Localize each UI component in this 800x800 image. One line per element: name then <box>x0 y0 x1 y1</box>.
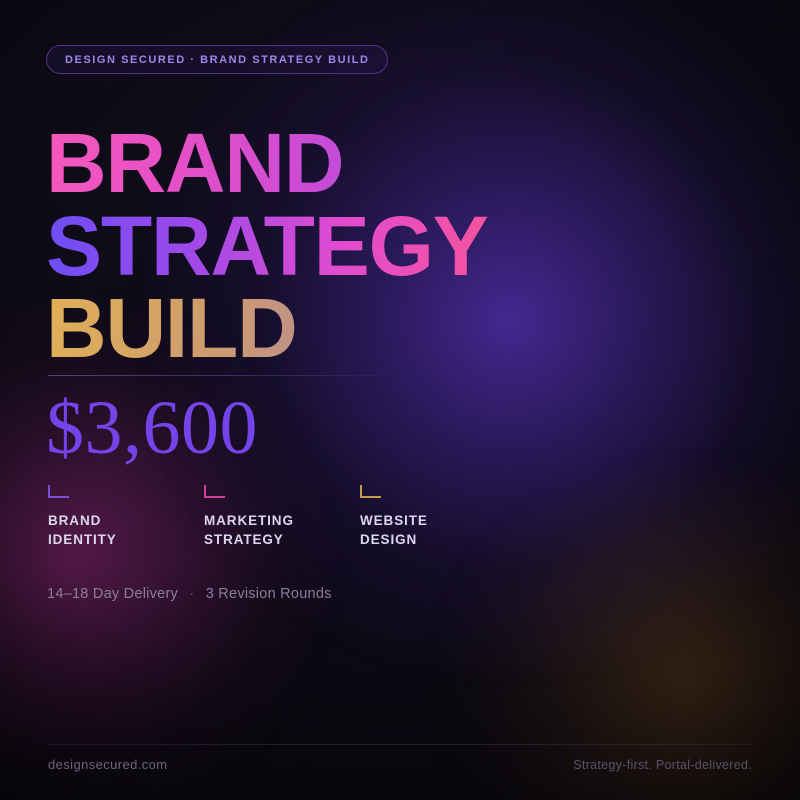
corner-bracket-icon <box>360 485 381 498</box>
status-badge-label: DESIGN SECURED · BRAND STRATEGY BUILD <box>65 54 369 66</box>
poster-content: DESIGN SECURED · BRAND STRATEGY BUILD BR… <box>0 0 800 800</box>
feature-item-brand-identity: BRAND IDENTITY <box>48 485 204 549</box>
feature-list: BRAND IDENTITY MARKETING STRATEGY WEBSIT… <box>48 485 588 549</box>
corner-bracket-icon <box>204 485 225 498</box>
footer-website[interactable]: designsecured.com <box>48 757 168 772</box>
feature-label: WEBSITE DESIGN <box>360 511 516 549</box>
promo-poster: DESIGN SECURED · BRAND STRATEGY BUILD BR… <box>0 0 800 800</box>
footer-tagline: Strategy-first. Portal-delivered. <box>573 758 752 772</box>
revision-rounds: 3 Revision Rounds <box>206 586 332 602</box>
delivery-meta: 14–18 Day Delivery · 3 Revision Rounds <box>47 586 332 602</box>
headline-line-3: BUILD <box>46 287 746 370</box>
headline-line-1: BRAND <box>46 122 746 205</box>
price-amount: $3,600 <box>46 390 258 466</box>
footer: designsecured.com Strategy-first. Portal… <box>48 757 752 772</box>
delivery-time: 14–18 Day Delivery <box>47 586 178 602</box>
page-title: BRAND STRATEGY BUILD <box>46 122 746 370</box>
feature-label: BRAND IDENTITY <box>48 511 204 549</box>
feature-item-website-design: WEBSITE DESIGN <box>360 485 516 549</box>
feature-label: MARKETING STRATEGY <box>204 511 360 549</box>
meta-separator: · <box>182 586 201 602</box>
headline-divider <box>48 375 392 376</box>
feature-item-marketing-strategy: MARKETING STRATEGY <box>204 485 360 549</box>
footer-divider <box>48 744 752 745</box>
status-badge: DESIGN SECURED · BRAND STRATEGY BUILD <box>46 45 388 74</box>
headline-line-2: STRATEGY <box>46 205 746 288</box>
corner-bracket-icon <box>48 485 69 498</box>
